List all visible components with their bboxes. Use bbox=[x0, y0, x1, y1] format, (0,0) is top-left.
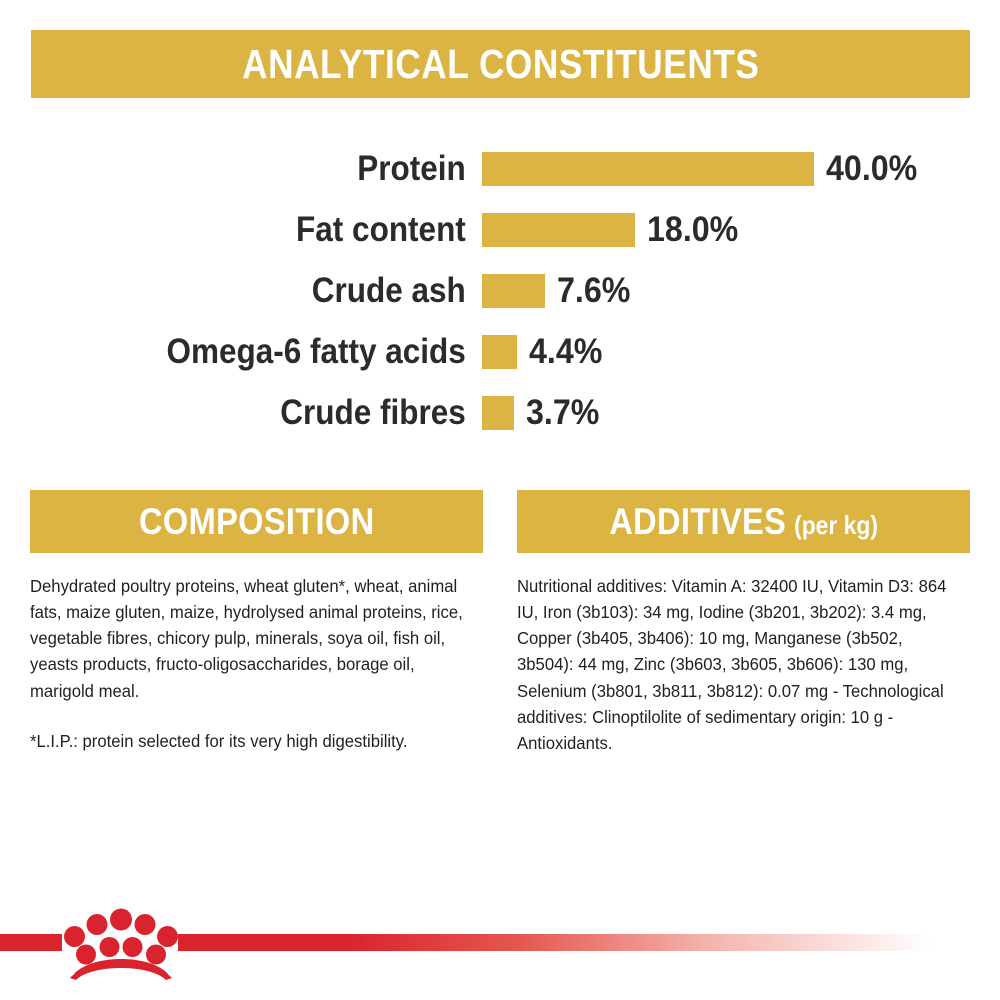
additives-body-text: Nutritional additives: Vitamin A: 32400 … bbox=[517, 573, 956, 756]
constituent-bar-wrap: 4.4% bbox=[482, 334, 1000, 369]
info-panels: COMPOSITION Dehydrated poultry proteins,… bbox=[0, 490, 1000, 756]
constituent-label: Protein bbox=[48, 151, 482, 186]
constituent-row: Crude ash7.6% bbox=[0, 260, 1000, 321]
analytical-constituents-banner: ANALYTICAL CONSTITUENTS bbox=[31, 30, 970, 98]
constituent-bar-wrap: 18.0% bbox=[482, 212, 1000, 247]
constituent-row: Omega-6 fatty acids4.4% bbox=[0, 321, 1000, 382]
additives-panel: ADDITIVES (per kg) Nutritional additives… bbox=[517, 490, 970, 756]
constituent-bar-wrap: 3.7% bbox=[482, 395, 1000, 430]
composition-body-text: Dehydrated poultry proteins, wheat glute… bbox=[30, 573, 469, 704]
constituent-bar-wrap: 7.6% bbox=[482, 273, 1000, 308]
analytical-constituents-chart: Protein40.0%Fat content18.0%Crude ash7.6… bbox=[0, 138, 1000, 443]
footer-rule-right bbox=[178, 934, 933, 951]
additives-banner: ADDITIVES (per kg) bbox=[517, 490, 970, 553]
constituent-row: Fat content18.0% bbox=[0, 199, 1000, 260]
constituent-value: 18.0% bbox=[647, 212, 738, 247]
constituent-row: Crude fibres3.7% bbox=[0, 382, 1000, 443]
constituent-bar bbox=[482, 396, 514, 430]
additives-title: ADDITIVES bbox=[609, 503, 786, 540]
composition-panel: COMPOSITION Dehydrated poultry proteins,… bbox=[30, 490, 483, 756]
constituent-label: Fat content bbox=[48, 212, 482, 247]
additives-title-suffix: (per kg) bbox=[794, 512, 878, 538]
constituent-row: Protein40.0% bbox=[0, 138, 1000, 199]
constituent-label: Crude fibres bbox=[48, 395, 482, 430]
constituent-bar bbox=[482, 335, 517, 369]
footer-rule-left bbox=[0, 934, 62, 951]
constituent-bar bbox=[482, 152, 814, 186]
constituent-label: Omega-6 fatty acids bbox=[48, 334, 482, 369]
constituent-bar bbox=[482, 213, 635, 247]
constituent-value: 4.4% bbox=[529, 334, 602, 369]
composition-banner: COMPOSITION bbox=[30, 490, 483, 553]
constituent-bar-wrap: 40.0% bbox=[482, 151, 1000, 186]
footer bbox=[0, 890, 1000, 1000]
royal-canin-crown-icon bbox=[62, 904, 180, 982]
constituent-value: 3.7% bbox=[526, 395, 599, 430]
constituent-value: 7.6% bbox=[557, 273, 630, 308]
constituent-value: 40.0% bbox=[826, 151, 917, 186]
constituent-label: Crude ash bbox=[48, 273, 482, 308]
composition-footnote: *L.I.P.: protein selected for its very h… bbox=[30, 728, 469, 754]
page-title: ANALYTICAL CONSTITUENTS bbox=[242, 44, 759, 85]
composition-title: COMPOSITION bbox=[139, 503, 374, 540]
constituent-bar bbox=[482, 274, 545, 308]
